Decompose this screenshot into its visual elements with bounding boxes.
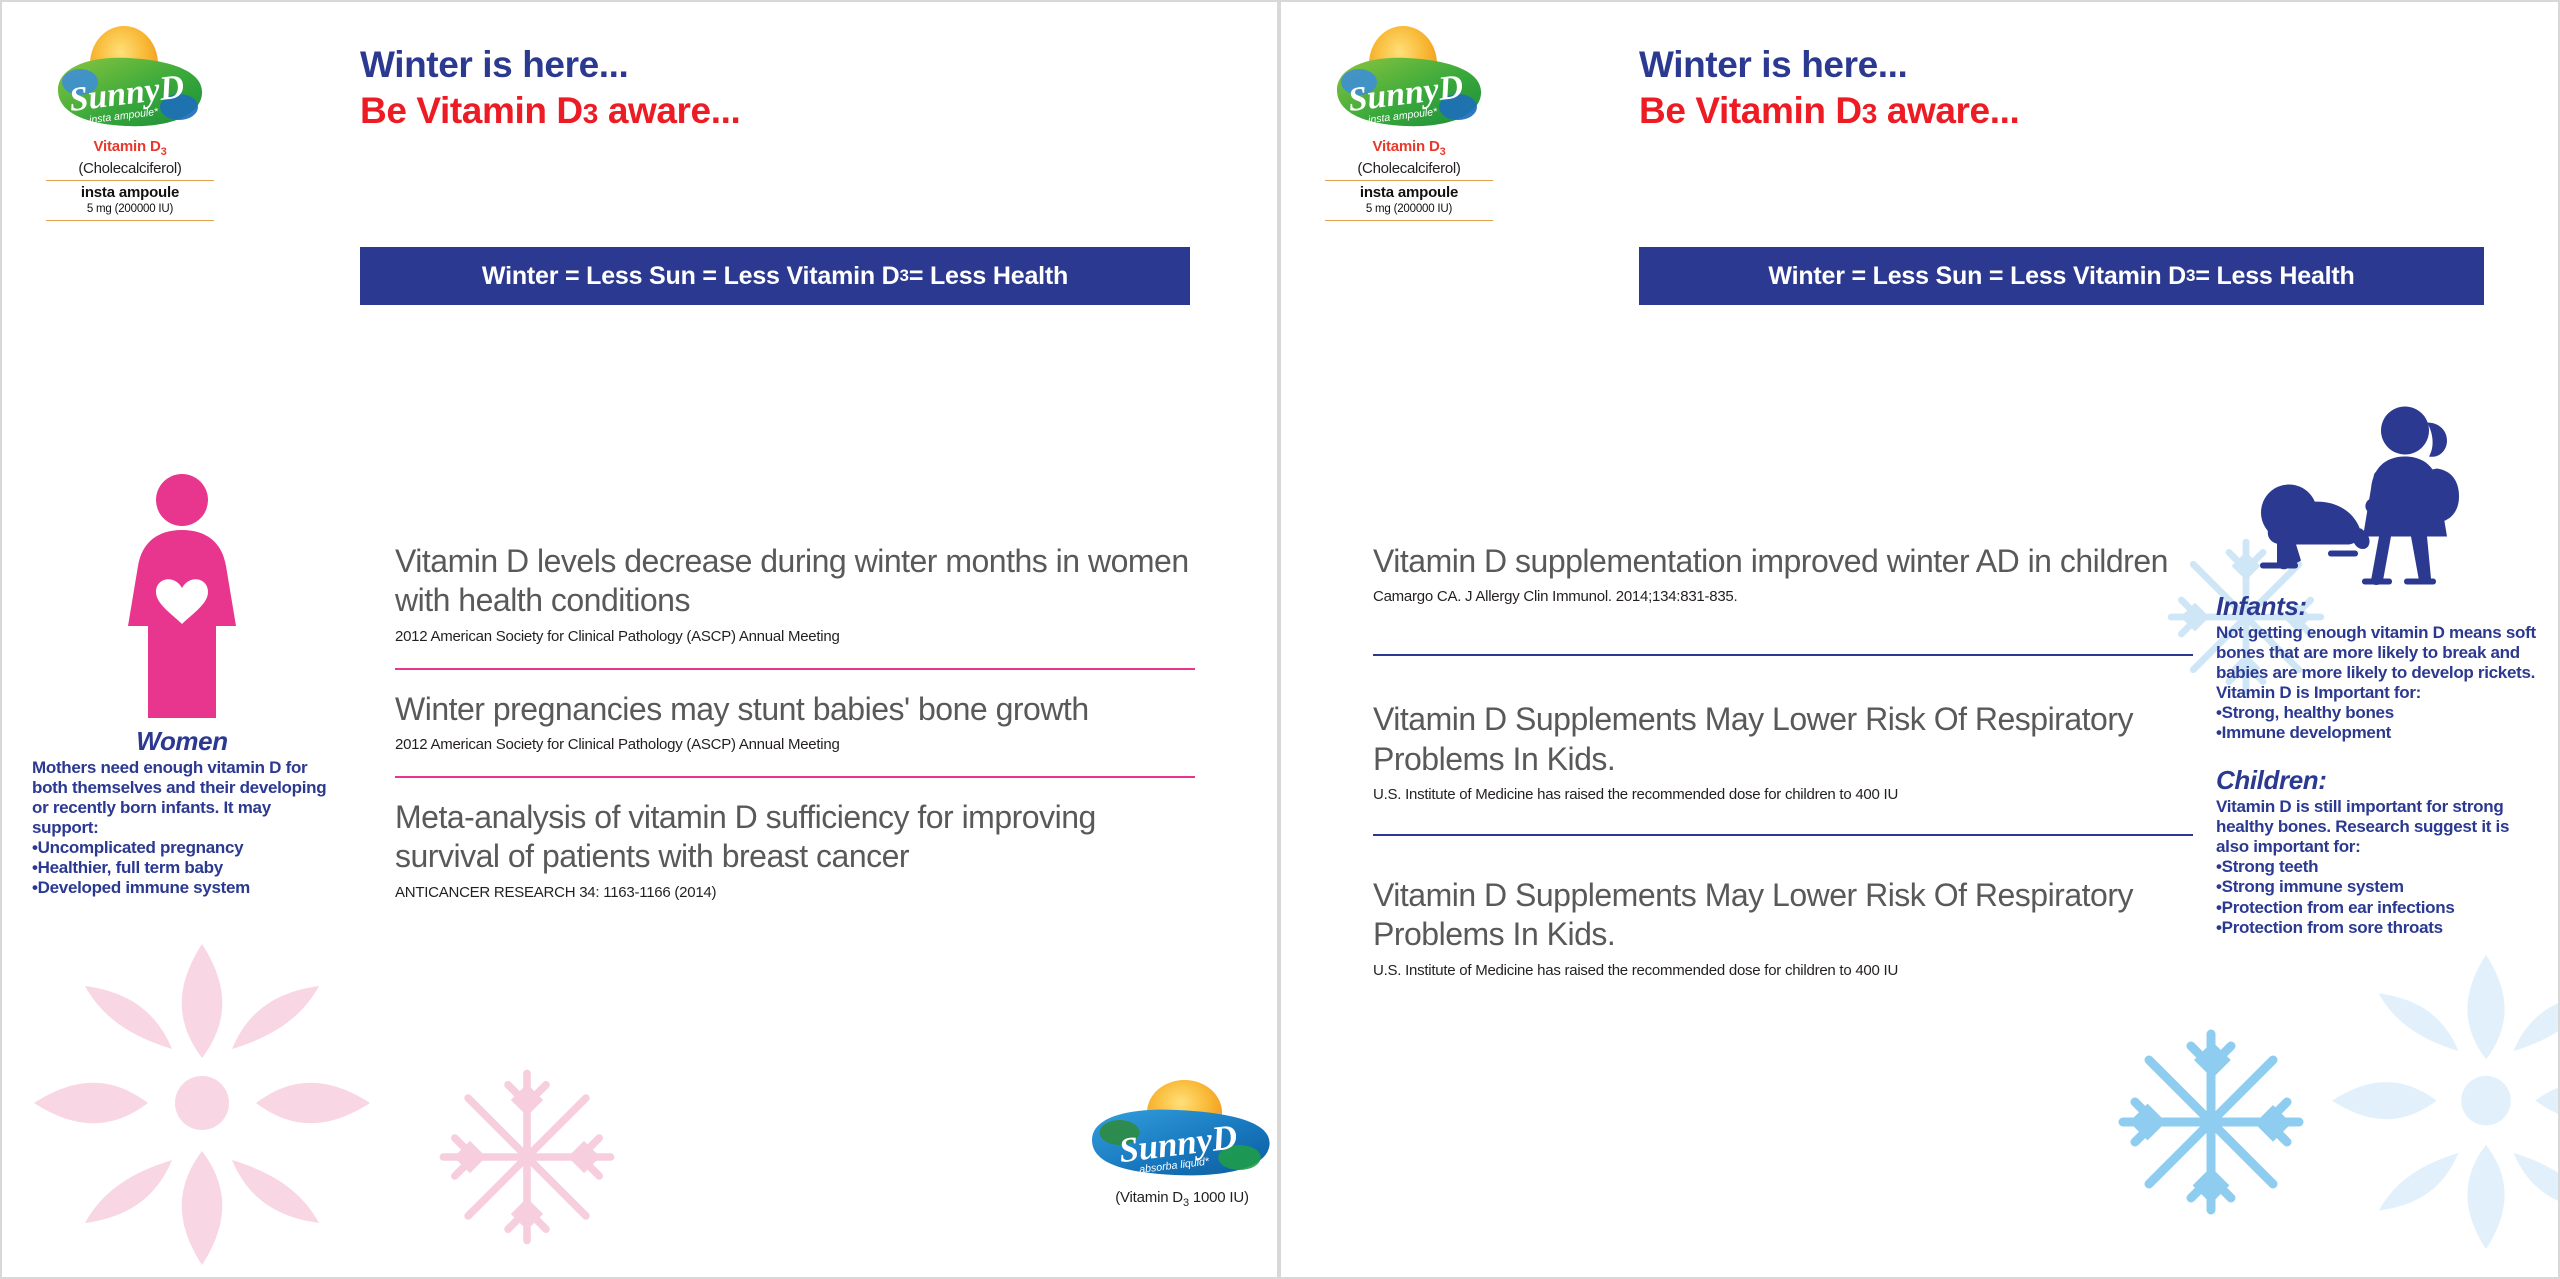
article-item: Meta-analysis of vitamin D sufficiency f…: [395, 798, 1195, 902]
equation-banner-post: = Less Health: [2195, 262, 2354, 291]
infants-paragraph: Not getting enough vitamin D means soft …: [2216, 623, 2536, 683]
article-divider: [395, 668, 1195, 670]
brand-divider-1: [1325, 180, 1493, 181]
article-item: Winter pregnancies may stunt babies' bon…: [395, 690, 1195, 754]
infant-and-child-icon: [2251, 402, 2501, 587]
article-divider: [395, 776, 1195, 778]
children-bullet-2: •Protection from ear infections: [2216, 898, 2536, 918]
infants-section-title: Infants:: [2216, 591, 2536, 622]
article-item: Vitamin D Supplements May Lower Risk Of …: [1373, 700, 2193, 804]
article-source: 2012 American Society for Clinical Patho…: [395, 736, 1195, 754]
children-side-column: Infants: Not getting enough vitamin D me…: [2216, 402, 2536, 938]
brand-dose: 5 mg (200000 IU): [1319, 203, 1499, 215]
bottom-caption-pre: (Vitamin D: [1115, 1189, 1183, 1206]
blue-flower-decoration: [2321, 942, 2560, 1262]
women-section-body: Mothers need enough vitamin D for both t…: [32, 758, 332, 898]
equation-banner: Winter = Less Sun = Less Vitamin D3 = Le…: [1639, 247, 2484, 305]
left-headline-group: Winter is here... Be Vitamin D3 aware...: [360, 44, 740, 132]
left-slide-panel: SunnyD insta ampoule* Vitamin D3 (Cholec…: [0, 0, 1279, 1279]
children-bullet-0: •Strong teeth: [2216, 857, 2536, 877]
article-item: Vitamin D Supplements May Lower Risk Of …: [1373, 876, 2193, 980]
infants-section-body: Not getting enough vitamin D means soft …: [2216, 623, 2536, 743]
brand-dose: 5 mg (200000 IU): [40, 203, 220, 215]
article-source: Camargo CA. J Allergy Clin Immunol. 2014…: [1373, 588, 2193, 606]
equation-banner-post: = Less Health: [909, 262, 1068, 291]
children-bullet-3: •Protection from sore throats: [2216, 918, 2536, 938]
article-divider: [1373, 834, 2193, 836]
left-articles-list: Vitamin D levels decrease during winter …: [395, 542, 1195, 902]
article-title: Vitamin D Supplements May Lower Risk Of …: [1373, 700, 2193, 779]
sunnyd-blue-logo: SunnyD absorba liquid*: [1082, 1080, 1279, 1180]
headline-line-2: Be Vitamin D3 aware...: [360, 90, 740, 131]
headline-line-2-pre: Be Vitamin D: [1639, 90, 1862, 131]
brand-divider-1: [46, 180, 214, 181]
headline-line-1: Winter is here...: [360, 44, 740, 85]
women-paragraph: Mothers need enough vitamin D for both t…: [32, 758, 332, 838]
headline-line-2-sub: 3: [583, 98, 598, 129]
women-bullet-2: •Developed immune system: [32, 878, 332, 898]
headline-line-2-pre: Be Vitamin D: [360, 90, 583, 131]
right-slide-panel: SunnyD insta ampoule* Vitamin D3 (Cholec…: [1279, 0, 2560, 1279]
blue-snowflake-decoration: [2111, 1022, 2311, 1222]
headline-line-2: Be Vitamin D3 aware...: [1639, 90, 2019, 131]
brand-form: insta ampoule: [40, 184, 220, 201]
children-section-title: Children:: [2216, 765, 2536, 796]
article-source: 2012 American Society for Clinical Patho…: [395, 628, 1195, 646]
children-paragraph: Vitamin D is still important for strong …: [2216, 797, 2536, 857]
equation-banner-sub: 3: [900, 266, 909, 286]
equation-banner: Winter = Less Sun = Less Vitamin D3 = Le…: [360, 247, 1190, 305]
women-bullet-0: •Uncomplicated pregnancy: [32, 838, 332, 858]
headline-line-2-sub: 3: [1862, 98, 1877, 129]
article-title: Winter pregnancies may stunt babies' bon…: [395, 690, 1195, 729]
brand-block-blue: SunnyD absorba liquid* (Vitamin D3 1000 …: [1082, 1080, 1279, 1209]
article-source: ANTICANCER RESEARCH 34: 1163-1166 (2014): [395, 884, 1195, 902]
article-source: U.S. Institute of Medicine has raised th…: [1373, 786, 2193, 804]
sunnyd-green-logo: SunnyD insta ampoule*: [1329, 24, 1489, 142]
equation-banner-pre: Winter = Less Sun = Less Vitamin D: [1768, 262, 2186, 291]
headline-line-2-post: aware...: [1877, 90, 2019, 131]
pink-flower-decoration: [22, 932, 382, 1277]
equation-banner-sub: 3: [2186, 266, 2195, 286]
brand-chemical-name: (Cholecalciferol): [1319, 160, 1499, 177]
article-title: Vitamin D levels decrease during winter …: [395, 542, 1195, 621]
article-title: Meta-analysis of vitamin D sufficiency f…: [395, 798, 1195, 877]
brand-chemical-name: (Cholecalciferol): [40, 160, 220, 177]
woman-with-heart-icon: [118, 472, 246, 722]
brand-form: insta ampoule: [1319, 184, 1499, 201]
article-item: Vitamin D supplementation improved winte…: [1373, 542, 2193, 606]
right-articles-list: Vitamin D supplementation improved winte…: [1373, 542, 2193, 980]
infants-bullet-1: •Immune development: [2216, 723, 2536, 743]
equation-banner-pre: Winter = Less Sun = Less Vitamin D: [482, 262, 900, 291]
article-title: Vitamin D supplementation improved winte…: [1373, 542, 2193, 581]
article-item: Vitamin D levels decrease during winter …: [395, 542, 1195, 646]
brand-block-green: SunnyD insta ampoule* Vitamin D3 (Cholec…: [40, 24, 220, 221]
headline-line-1: Winter is here...: [1639, 44, 2019, 85]
slide-pair: SunnyD insta ampoule* Vitamin D3 (Cholec…: [0, 0, 2560, 1279]
children-bullet-1: •Strong immune system: [2216, 877, 2536, 897]
brand-divider-2: [1325, 220, 1493, 221]
infants-lead: Vitamin D is Important for:: [2216, 683, 2536, 703]
article-divider: [1373, 654, 2193, 656]
article-source: U.S. Institute of Medicine has raised th…: [1373, 962, 2193, 980]
sunnyd-green-logo: SunnyD insta ampoule*: [50, 24, 210, 142]
women-side-column: Women Mothers need enough vitamin D for …: [32, 472, 332, 898]
bottom-caption-post: 1000 IU): [1189, 1189, 1249, 1206]
right-header: SunnyD insta ampoule* Vitamin D3 (Cholec…: [1281, 2, 2558, 332]
headline-line-2-post: aware...: [598, 90, 740, 131]
children-section-body: Vitamin D is still important for strong …: [2216, 797, 2536, 937]
infants-bullet-0: •Strong, healthy bones: [2216, 703, 2536, 723]
article-title: Vitamin D Supplements May Lower Risk Of …: [1373, 876, 2193, 955]
bottom-logo-caption: (Vitamin D3 1000 IU): [1082, 1189, 1279, 1209]
left-header: SunnyD insta ampoule* Vitamin D3 (Cholec…: [2, 2, 1277, 332]
women-bullet-1: •Healthier, full term baby: [32, 858, 332, 878]
women-section-title: Women: [32, 726, 332, 757]
brand-divider-2: [46, 220, 214, 221]
pink-snowflake-decoration: [432, 1062, 622, 1252]
right-headline-group: Winter is here... Be Vitamin D3 aware...: [1639, 44, 2019, 132]
brand-block-green: SunnyD insta ampoule* Vitamin D3 (Cholec…: [1319, 24, 1499, 221]
